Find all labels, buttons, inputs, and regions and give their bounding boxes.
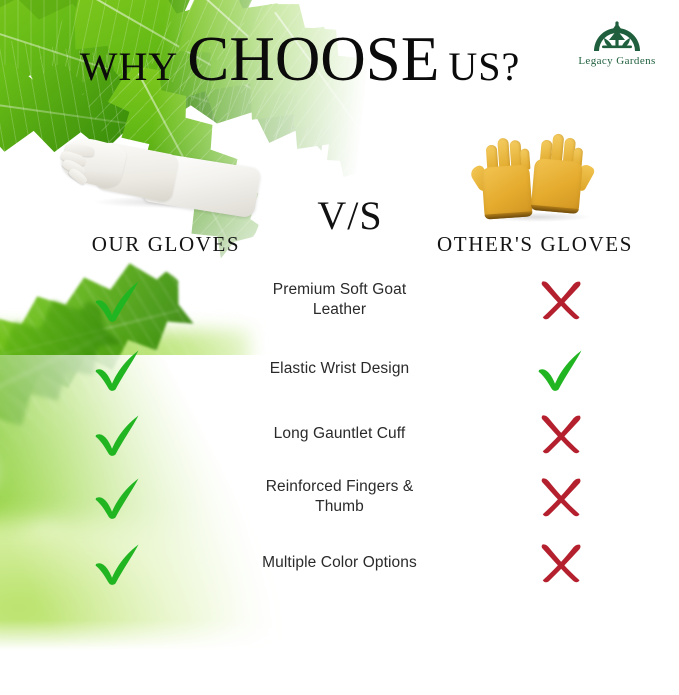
check-icon [92,346,144,392]
feature-line: Multiple Color Options [236,553,443,573]
check-icon [92,474,144,520]
our-gloves-mark [0,474,236,520]
our-gloves-mark [0,277,236,323]
check-icon [92,411,144,457]
others-gloves-mark [443,412,679,456]
brand-logo: Legacy Gardens [569,14,665,67]
check-icon [92,540,144,586]
feature-label: Premium Soft GoatLeather [236,280,443,321]
cross-icon [537,475,585,519]
our-gloves-mark [0,540,236,586]
feature-line: Elastic Wrist Design [236,359,443,379]
others-gloves-mark [443,541,679,585]
leaf-icon [0,240,206,436]
white-gauntlet-glove-image [36,128,296,223]
title-why: WHY [80,47,179,87]
infographic-canvas: WHY CHOOSE US? Legacy Gardens [0,0,679,695]
our-gloves-mark [0,346,236,392]
others-gloves-mark [443,278,679,322]
feature-line: Reinforced Fingers & [236,477,443,497]
yellow-gloves-image [420,128,650,223]
others-gloves-column: OTHER'S GLOVES [420,128,650,257]
our-gloves-column: OUR GLOVES [36,128,296,257]
feature-line: Leather [236,300,443,320]
page-title: WHY CHOOSE US? [0,28,600,102]
feature-line: Premium Soft Goat [236,280,443,300]
check-icon [535,346,587,392]
others-gloves-mark [443,346,679,392]
check-icon [92,277,144,323]
versus-label: V/S [300,192,400,239]
cross-icon [537,541,585,585]
feature-label: Long Gauntlet Cuff [236,424,443,444]
feature-label: Reinforced Fingers &Thumb [236,477,443,518]
our-gloves-label: OUR GLOVES [36,232,296,257]
others-gloves-label: OTHER'S GLOVES [420,232,650,257]
feature-label: Elastic Wrist Design [236,359,443,379]
our-gloves-mark [0,411,236,457]
feature-label: Multiple Color Options [236,553,443,573]
brand-name-label: Legacy Gardens [569,55,665,67]
cross-icon [537,278,585,322]
others-gloves-mark [443,475,679,519]
title-us: US? [448,47,520,87]
title-choose: CHOOSE [187,28,439,91]
arch-plant-logo-icon [591,14,643,54]
feature-line: Long Gauntlet Cuff [236,424,443,444]
feature-line: Thumb [236,497,443,517]
cross-icon [537,412,585,456]
footer-fade [0,620,679,695]
